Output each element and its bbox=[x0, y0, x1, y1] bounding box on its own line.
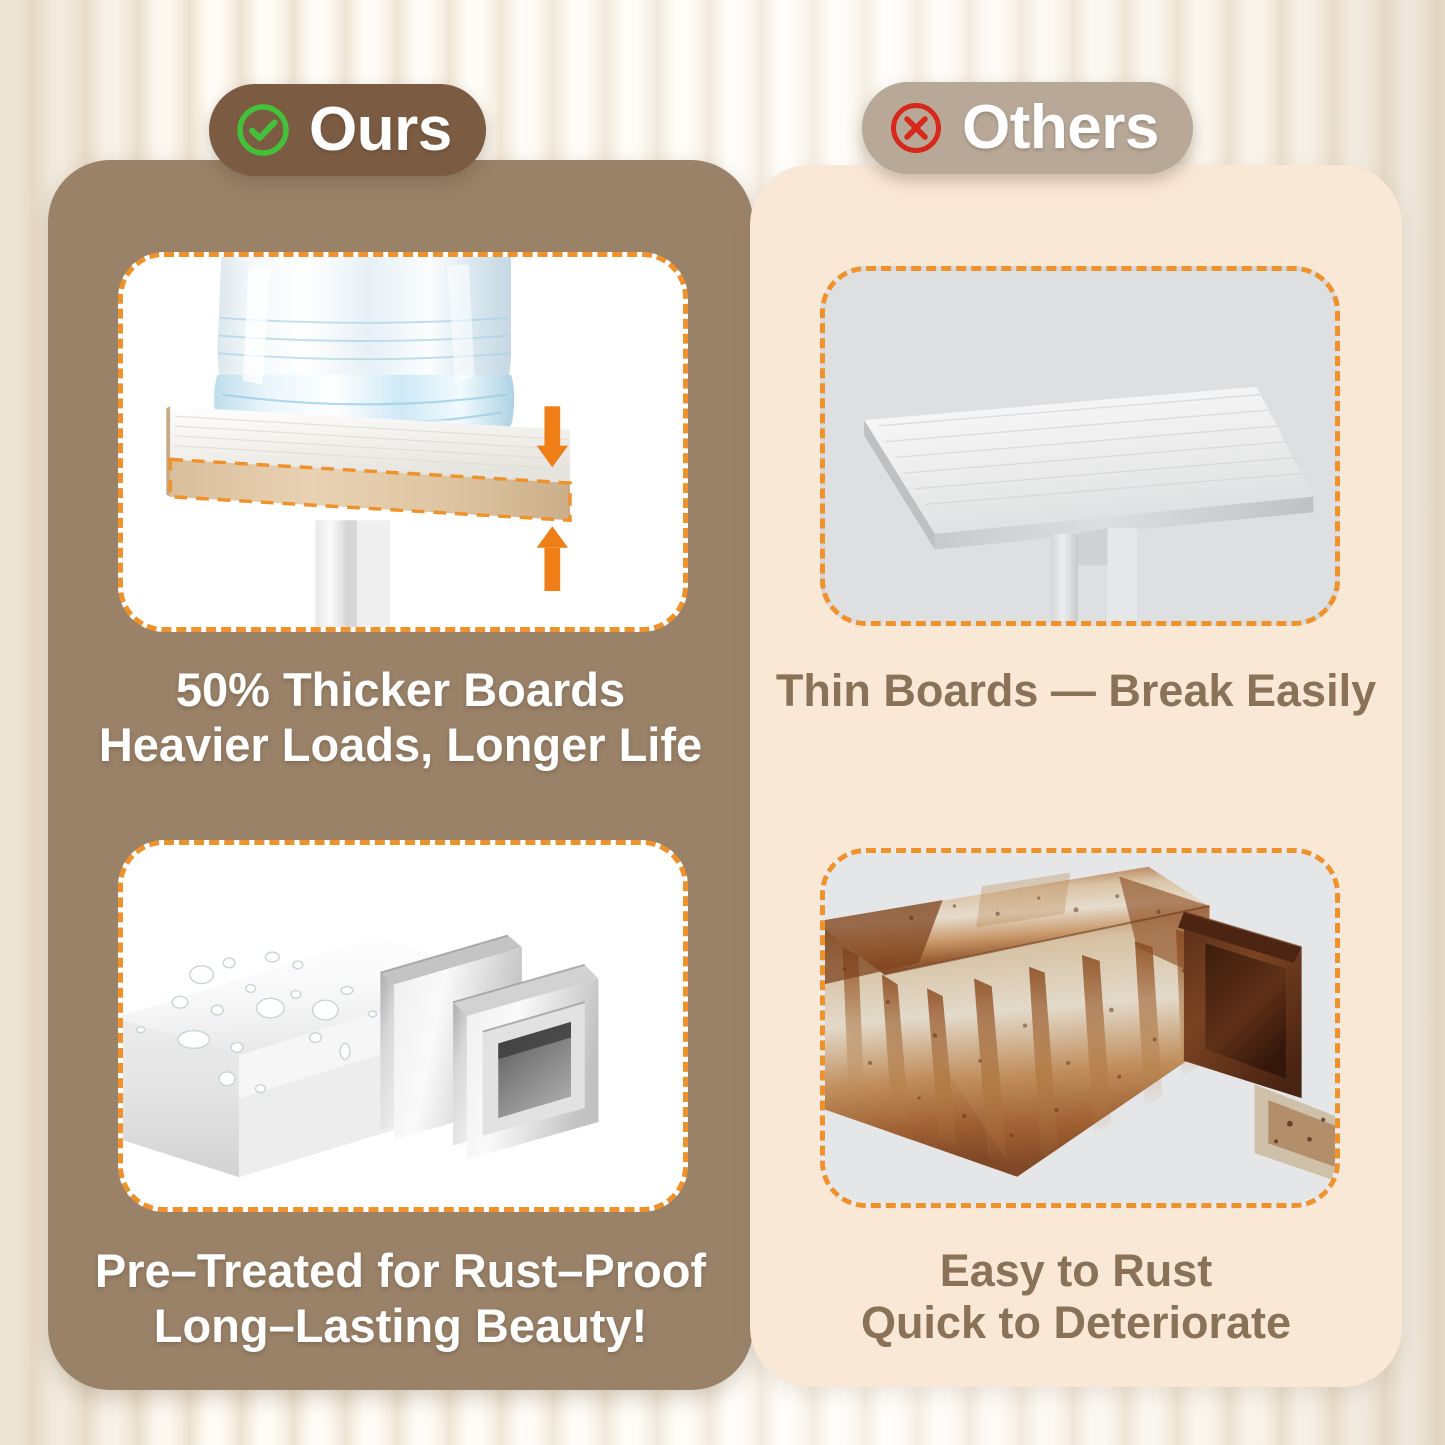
ours-badge: Ours bbox=[209, 84, 486, 176]
ours-badge-label: Ours bbox=[309, 99, 452, 161]
rusty-tube-art bbox=[825, 853, 1335, 1206]
ours-thick-board-card bbox=[118, 252, 688, 632]
white-tube-with-droplets-art bbox=[123, 845, 683, 1210]
others-rusty-caption: Easy to Rust Quick to Deteriorate bbox=[750, 1245, 1402, 1349]
circle-check-icon bbox=[235, 102, 291, 158]
ours-thick-board-caption: 50% Thicker Boards Heavier Loads, Longer… bbox=[48, 663, 753, 772]
others-thin-board-card bbox=[820, 266, 1340, 626]
others-badge: Others bbox=[862, 82, 1193, 174]
thin-board-on-post-art bbox=[825, 271, 1335, 624]
circle-cross-icon bbox=[888, 100, 944, 156]
others-thin-board-caption: Thin Boards — Break Easily bbox=[750, 665, 1402, 717]
others-badge-label: Others bbox=[962, 97, 1159, 159]
ours-rustproof-caption: Pre–Treated for Rust–Proof Long–Lasting … bbox=[48, 1244, 753, 1353]
ours-rustproof-tube-card bbox=[118, 840, 688, 1212]
glass-jug-on-thick-board-art bbox=[123, 257, 683, 630]
others-rusty-tube-card bbox=[820, 848, 1340, 1208]
